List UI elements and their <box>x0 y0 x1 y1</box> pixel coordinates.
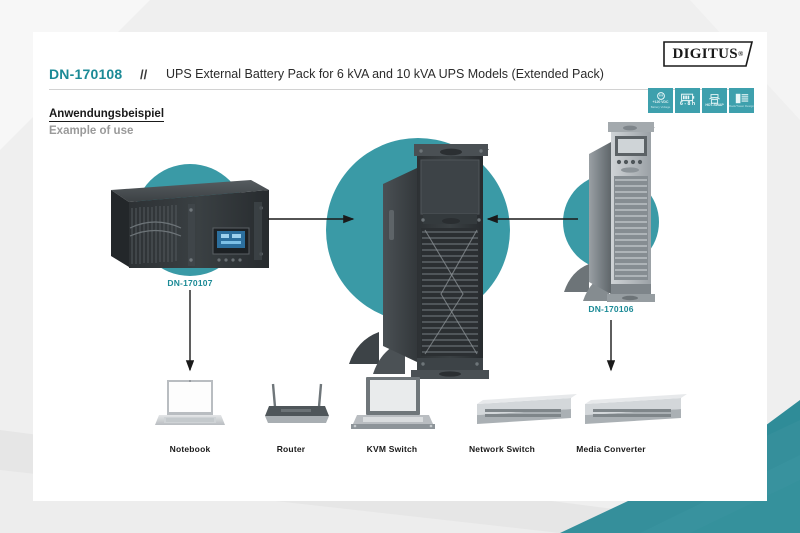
label-kvm-switch: KVM Switch <box>367 444 418 454</box>
label-router: Router <box>277 444 306 454</box>
label-dn-170106: DN-170106 <box>588 304 633 314</box>
icon-media-converter <box>585 394 687 424</box>
label-notebook: Notebook <box>170 444 211 454</box>
label-media-converter: Media Converter <box>576 444 646 454</box>
label-network-switch: Network Switch <box>469 444 535 454</box>
icon-network-switch <box>477 394 577 424</box>
content-card: DN-170108 // UPS External Battery Pack f… <box>33 32 767 501</box>
icon-kvm-switch <box>351 377 435 429</box>
label-dn-170107: DN-170107 <box>167 278 212 288</box>
icon-router <box>265 384 329 423</box>
icon-notebook <box>155 380 225 425</box>
device-ups-dn-170107 <box>111 180 269 268</box>
application-diagram <box>33 32 767 501</box>
